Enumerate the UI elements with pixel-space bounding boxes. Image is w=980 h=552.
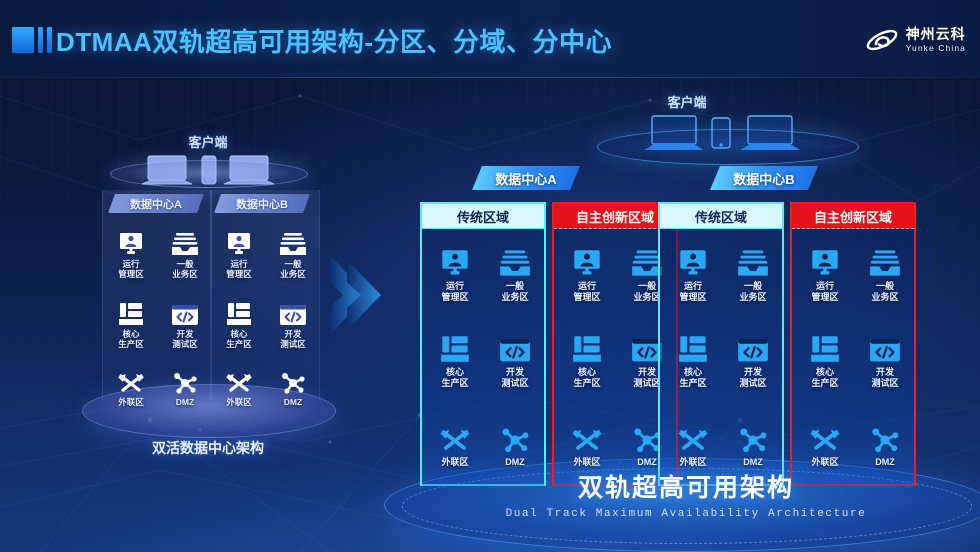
zone-label: 外联区 [796,457,854,468]
zone-label: 运行 管理区 [558,281,616,304]
area-body: 运行 管理区 一般 业务区 [422,229,544,488]
document-tray-icon [486,243,544,277]
zone-label: 外联区 [558,457,616,468]
left-client-label: 客户端 [158,132,258,151]
right-zone-cell: 核心 生产区 [796,329,854,390]
zone-label: 开发 测试区 [160,329,210,350]
right-zone-cell: 外联区 [426,419,484,468]
zone-label: DMZ [724,457,782,468]
zone-label: 核心 生产区 [558,367,616,390]
left-zone-cell: 核心 生产区 [106,296,156,350]
cross-arrows-icon [426,419,484,453]
server-stack-icon [558,329,616,363]
zone-label: 核心 生产区 [664,367,722,390]
zone-label: 一般 业务区 [160,259,210,280]
cross-arrows-icon [664,419,722,453]
right-zone-cell: 运行 管理区 [426,243,484,304]
left-zone-cell: 开发 测试区 [268,296,318,350]
left-zone-cell: 外联区 [214,364,264,407]
right-zone-cell: 一般 业务区 [486,243,544,304]
zone-label: 核心 生产区 [796,367,854,390]
zone-label: 外联区 [106,397,156,407]
zone-label: DMZ [856,457,914,468]
code-window-icon [486,329,544,363]
right-zone-cell: 一般 业务区 [856,243,914,304]
document-tray-icon [724,243,782,277]
dc-b-traditional-area: 传统区域 运行 管理区 [658,202,784,486]
node-network-icon [724,419,782,453]
left-zone-cell: 一般 业务区 [268,226,318,280]
right-zone-cell: 运行 管理区 [796,243,854,304]
page-title: DTMAA双轨超高可用架构-分区、分域、分中心 [56,22,612,59]
left-zone-cell: 外联区 [106,364,156,407]
node-network-icon [486,419,544,453]
zone-label: 核心 生产区 [214,329,264,350]
right-zone-cell: DMZ [486,419,544,468]
zone-label: 外联区 [664,457,722,468]
right-datacenter-b-badge: 数据中心B [710,166,818,190]
left-zone-cell: 运行 管理区 [106,226,156,280]
area-body: 运行 管理区 一般 业务区 [660,229,782,488]
user-monitor-icon [558,243,616,277]
right-zone-cell: 开发 测试区 [486,329,544,390]
zone-label: DMZ [160,397,210,407]
zone-label: 运行 管理区 [106,259,156,280]
zone-label: 一般 业务区 [724,281,782,304]
zone-label: 开发 测试区 [724,367,782,390]
title-bars-icon [12,27,52,53]
area-title: 传统区域 [660,204,782,229]
logo-name-en: Yunke China [906,44,966,53]
server-stack-icon [106,296,156,326]
cross-arrows-icon [106,364,156,394]
left-datacenter-a-badge: 数据中心A [108,194,204,213]
cross-arrows-icon [796,419,854,453]
zone-label: 一般 业务区 [268,259,318,280]
swirl-logo-icon [865,25,899,55]
left-zone-cell: 一般 业务区 [160,226,210,280]
area-title: 传统区域 [422,204,544,229]
brand-logo: 神州云科 Yunke China [865,24,966,56]
right-zone-cell: 开发 测试区 [724,329,782,390]
cross-arrows-icon [558,419,616,453]
node-network-icon [856,419,914,453]
zone-label: 核心 生产区 [426,367,484,390]
right-zone-cell: 外联区 [558,419,616,468]
right-zone-cell: 外联区 [796,419,854,468]
logo-name-cn: 神州云科 [906,27,966,42]
user-monitor-icon [796,243,854,277]
area-title: 自主创新区域 [792,204,914,229]
user-monitor-icon [426,243,484,277]
slide-header: DTMAA双轨超高可用架构-分区、分域、分中心 神州云科 Yunke China [0,0,980,78]
node-network-icon [268,364,318,394]
dc-a-traditional-area: 传统区域 运行 管理区 [420,202,546,486]
zone-label: 一般 业务区 [486,281,544,304]
right-top-platform [597,129,859,165]
left-diagram-caption: 双活数据中心架构 [88,438,328,458]
zone-label: 核心 生产区 [106,329,156,350]
left-datacenter-b-badge: 数据中心B [214,194,310,213]
right-zone-cell: 开发 测试区 [856,329,914,390]
left-zone-cell: 开发 测试区 [160,296,210,350]
chevron-right-arrow-icon [325,252,387,338]
user-monitor-icon [664,243,722,277]
user-monitor-icon [214,226,264,256]
right-zone-cell: 外联区 [664,419,722,468]
area-body: 运行 管理区 一般 业务区 [792,229,914,488]
code-window-icon [268,296,318,326]
code-window-icon [160,296,210,326]
zone-label: DMZ [486,457,544,468]
cross-arrows-icon [214,364,264,394]
right-zone-cell: 核心 生产区 [558,329,616,390]
main-caption-en: Dual Track Maximum Availability Architec… [392,508,980,520]
main-caption-cn: 双轨超高可用架构 [392,468,980,504]
zone-label: 开发 测试区 [856,367,914,390]
zone-label: 开发 测试区 [268,329,318,350]
zone-label: 运行 管理区 [426,281,484,304]
right-zone-cell: 核心 生产区 [664,329,722,390]
zone-label: DMZ [268,397,318,407]
code-window-icon [724,329,782,363]
right-zone-cell: DMZ [724,419,782,468]
server-stack-icon [664,329,722,363]
dc-b-innovation-area: 自主创新区域 运行 管理区 [790,202,916,486]
main-caption: 双轨超高可用架构 Dual Track Maximum Availability… [392,468,980,520]
left-zone-cell: DMZ [160,364,210,407]
document-tray-icon [856,243,914,277]
right-zone-cell: DMZ [856,419,914,468]
legacy-architecture-diagram: 客户端 数据中心A 数据中心B 运 [88,132,328,462]
zone-label: 运行 管理区 [796,281,854,304]
server-stack-icon [796,329,854,363]
right-zone-cell: 运行 管理区 [558,243,616,304]
zone-label: 外联区 [426,457,484,468]
zone-label: 外联区 [214,397,264,407]
right-datacenter-a-badge: 数据中心A [472,166,580,190]
right-zone-cell: 运行 管理区 [664,243,722,304]
user-monitor-icon [106,226,156,256]
zone-label: 运行 管理区 [664,281,722,304]
left-top-platform [110,160,308,188]
document-tray-icon [160,226,210,256]
right-client-label: 客户端 [627,92,747,111]
left-zone-cell: DMZ [268,364,318,407]
document-tray-icon [268,226,318,256]
right-zone-cell: 一般 业务区 [724,243,782,304]
node-network-icon [160,364,210,394]
zone-label: 开发 测试区 [486,367,544,390]
left-zone-cell: 核心 生产区 [214,296,264,350]
zone-label: 运行 管理区 [214,259,264,280]
left-zone-cell: 运行 管理区 [214,226,264,280]
server-stack-icon [214,296,264,326]
zone-label: 一般 业务区 [856,281,914,304]
server-stack-icon [426,329,484,363]
slide-canvas: DTMAA双轨超高可用架构-分区、分域、分中心 神州云科 Yunke China… [0,0,980,552]
right-zone-cell: 核心 生产区 [426,329,484,390]
code-window-icon [856,329,914,363]
